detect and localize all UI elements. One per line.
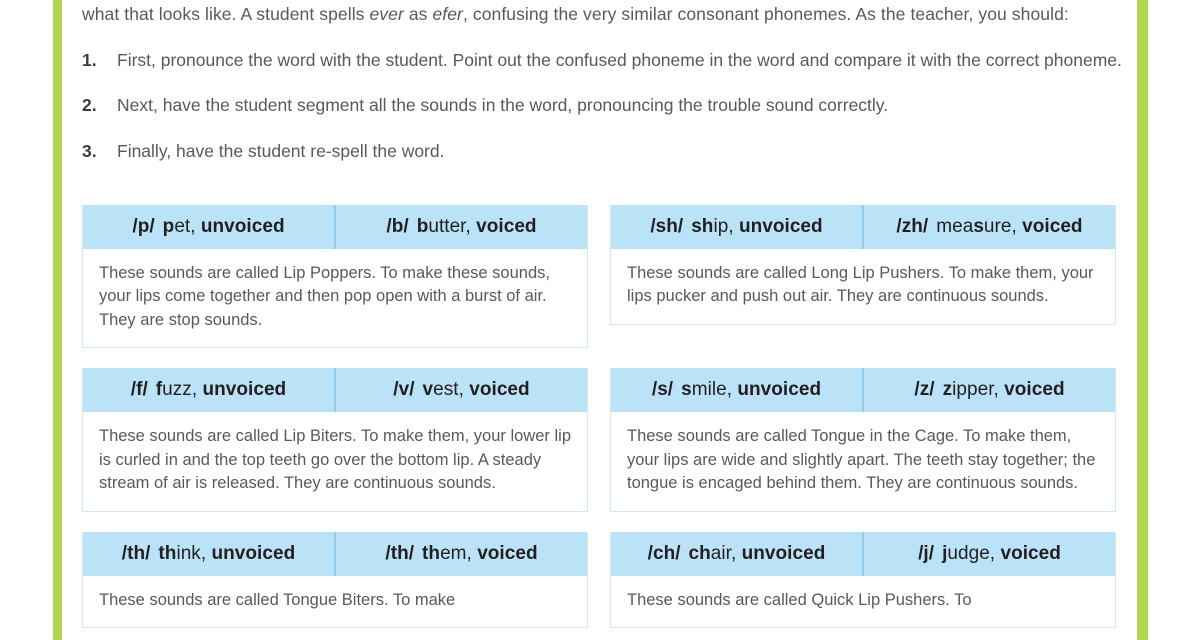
- phoneme-card: /f/fuzz, unvoiced /v/vest, voiced These …: [82, 368, 588, 511]
- phoneme-symbol: /s/: [652, 379, 673, 401]
- page: what that looks like. A student spells e…: [0, 0, 1200, 630]
- phoneme-voicing: voiced: [1022, 216, 1082, 238]
- phoneme-card-body: These sounds are called Long Lip Pushers…: [611, 249, 1115, 324]
- phoneme-word-rest: ure,: [984, 216, 1017, 238]
- phoneme-voicing: unvoiced: [202, 379, 286, 401]
- left-green-rule: [53, 0, 62, 640]
- phoneme-symbol: /b/: [386, 216, 408, 238]
- phoneme-voicing: voiced: [1000, 543, 1060, 565]
- step-item: 2. Next, have the student segment all th…: [82, 93, 1130, 119]
- phoneme-word-rest: em,: [440, 543, 472, 565]
- phoneme-card: /sh/ship, unvoiced /zh/measure, voiced T…: [610, 205, 1116, 325]
- intro-italic-efer: efer: [432, 4, 463, 24]
- step-text: Finally, have the student re-spell the w…: [117, 141, 444, 161]
- phoneme-card-grid: /p/pet, unvoiced /b/butter, voiced These…: [82, 205, 1130, 628]
- phoneme-card-body: These sounds are called Lip Biters. To m…: [83, 412, 587, 510]
- phoneme-voicing: unvoiced: [201, 216, 285, 238]
- phoneme-word-rest: mile,: [692, 379, 732, 401]
- phoneme-grapheme: z: [943, 379, 953, 401]
- phoneme-symbol: /ch/: [648, 543, 681, 565]
- phoneme-entry-left: /p/pet, unvoiced: [83, 205, 334, 249]
- phoneme-grapheme: th: [158, 543, 176, 565]
- content-column: what that looks like. A student spells e…: [82, 0, 1130, 630]
- step-item: 1. First, pronounce the word with the st…: [82, 48, 1130, 74]
- phoneme-word-rest: utter,: [428, 216, 470, 238]
- phoneme-symbol: /zh/: [896, 216, 928, 238]
- intro-prefix: what that looks like. A student spells: [82, 4, 369, 24]
- phoneme-voicing: unvoiced: [212, 543, 296, 565]
- phoneme-symbol: /j/: [918, 543, 934, 565]
- phoneme-symbol: /sh/: [650, 216, 683, 238]
- phoneme-grapheme: b: [417, 216, 429, 238]
- step-number: 2.: [82, 93, 97, 119]
- phoneme-card: /p/pet, unvoiced /b/butter, voiced These…: [82, 205, 588, 348]
- phoneme-entry-right: /j/judge, voiced: [862, 532, 1115, 576]
- phoneme-card-body: These sounds are called Quick Lip Pusher…: [611, 576, 1115, 627]
- phoneme-symbol: /v/: [393, 379, 414, 401]
- phoneme-card: /s/smile, unvoiced /z/zipper, voiced The…: [610, 368, 1116, 511]
- phoneme-entry-left: /ch/chair, unvoiced: [611, 532, 862, 576]
- phoneme-card: /ch/chair, unvoiced /j/judge, voiced The…: [610, 532, 1116, 628]
- phoneme-entry-right: /z/zipper, voiced: [862, 368, 1115, 412]
- intro-mid: as: [404, 4, 433, 24]
- phoneme-symbol: /p/: [132, 216, 154, 238]
- phoneme-entry-left: /sh/ship, unvoiced: [611, 205, 862, 249]
- phoneme-card-header: /th/think, unvoiced /th/them, voiced: [83, 532, 587, 576]
- phoneme-symbol: /z/: [914, 379, 934, 401]
- phoneme-voicing: unvoiced: [737, 379, 821, 401]
- phoneme-symbol: /f/: [131, 379, 148, 401]
- step-item: 3. Finally, have the student re-spell th…: [82, 139, 1130, 165]
- phoneme-word-rest: ink,: [176, 543, 206, 565]
- phoneme-card-header: /p/pet, unvoiced /b/butter, voiced: [83, 205, 587, 249]
- step-text: Next, have the student segment all the s…: [117, 95, 888, 115]
- phoneme-grapheme: sh: [691, 216, 713, 238]
- phoneme-card-body: These sounds are called Tongue in the Ca…: [611, 412, 1115, 510]
- phoneme-card-body: These sounds are called Tongue Biters. T…: [83, 576, 587, 627]
- steps-list: 1. First, pronounce the word with the st…: [82, 48, 1130, 165]
- phoneme-word-rest: udge,: [947, 543, 995, 565]
- phoneme-voicing: voiced: [476, 216, 536, 238]
- intro-suffix: , confusing the very similar consonant p…: [463, 4, 1069, 24]
- right-green-rule: [1137, 0, 1148, 640]
- phoneme-grapheme: ch: [689, 543, 711, 565]
- step-text: First, pronounce the word with the stude…: [117, 50, 1122, 70]
- step-number: 3.: [82, 139, 97, 165]
- phoneme-entry-left: /th/think, unvoiced: [83, 532, 334, 576]
- phoneme-voicing: voiced: [1004, 379, 1064, 401]
- phoneme-card-header: /s/smile, unvoiced /z/zipper, voiced: [611, 368, 1115, 412]
- phoneme-word-rest: air,: [711, 543, 737, 565]
- phoneme-symbol: /th/: [122, 543, 151, 565]
- phoneme-grapheme: s: [681, 379, 692, 401]
- phoneme-entry-right: /b/butter, voiced: [334, 205, 587, 249]
- phoneme-card-header: /sh/ship, unvoiced /zh/measure, voiced: [611, 205, 1115, 249]
- phoneme-word-rest: uzz,: [162, 379, 197, 401]
- phoneme-grapheme: v: [423, 379, 434, 401]
- phoneme-word-pre: mea: [936, 216, 973, 238]
- phoneme-card-header: /ch/chair, unvoiced /j/judge, voiced: [611, 532, 1115, 576]
- phoneme-entry-left: /f/fuzz, unvoiced: [83, 368, 334, 412]
- phoneme-entry-left: /s/smile, unvoiced: [611, 368, 862, 412]
- intro-italic-ever: ever: [369, 4, 403, 24]
- phoneme-word-rest: ipper,: [952, 379, 999, 401]
- step-number: 1.: [82, 48, 97, 74]
- phoneme-voicing: unvoiced: [742, 543, 826, 565]
- phoneme-word-rest: et,: [174, 216, 195, 238]
- phoneme-voicing: voiced: [469, 379, 529, 401]
- phoneme-grapheme: p: [163, 216, 175, 238]
- phoneme-card-body: These sounds are called Lip Poppers. To …: [83, 249, 587, 347]
- phoneme-symbol: /th/: [385, 543, 414, 565]
- phoneme-word-rest: est,: [433, 379, 464, 401]
- phoneme-entry-right: /v/vest, voiced: [334, 368, 587, 412]
- phoneme-voicing: unvoiced: [739, 216, 823, 238]
- phoneme-grapheme: s: [973, 216, 984, 238]
- phoneme-grapheme: th: [422, 543, 440, 565]
- phoneme-entry-right: /th/them, voiced: [334, 532, 587, 576]
- phoneme-voicing: voiced: [477, 543, 537, 565]
- phoneme-word-rest: ip,: [713, 216, 733, 238]
- intro-paragraph: what that looks like. A student spells e…: [82, 0, 1117, 28]
- phoneme-card-header: /f/fuzz, unvoiced /v/vest, voiced: [83, 368, 587, 412]
- phoneme-entry-right: /zh/measure, voiced: [862, 205, 1115, 249]
- phoneme-card: /th/think, unvoiced /th/them, voiced The…: [82, 532, 588, 628]
